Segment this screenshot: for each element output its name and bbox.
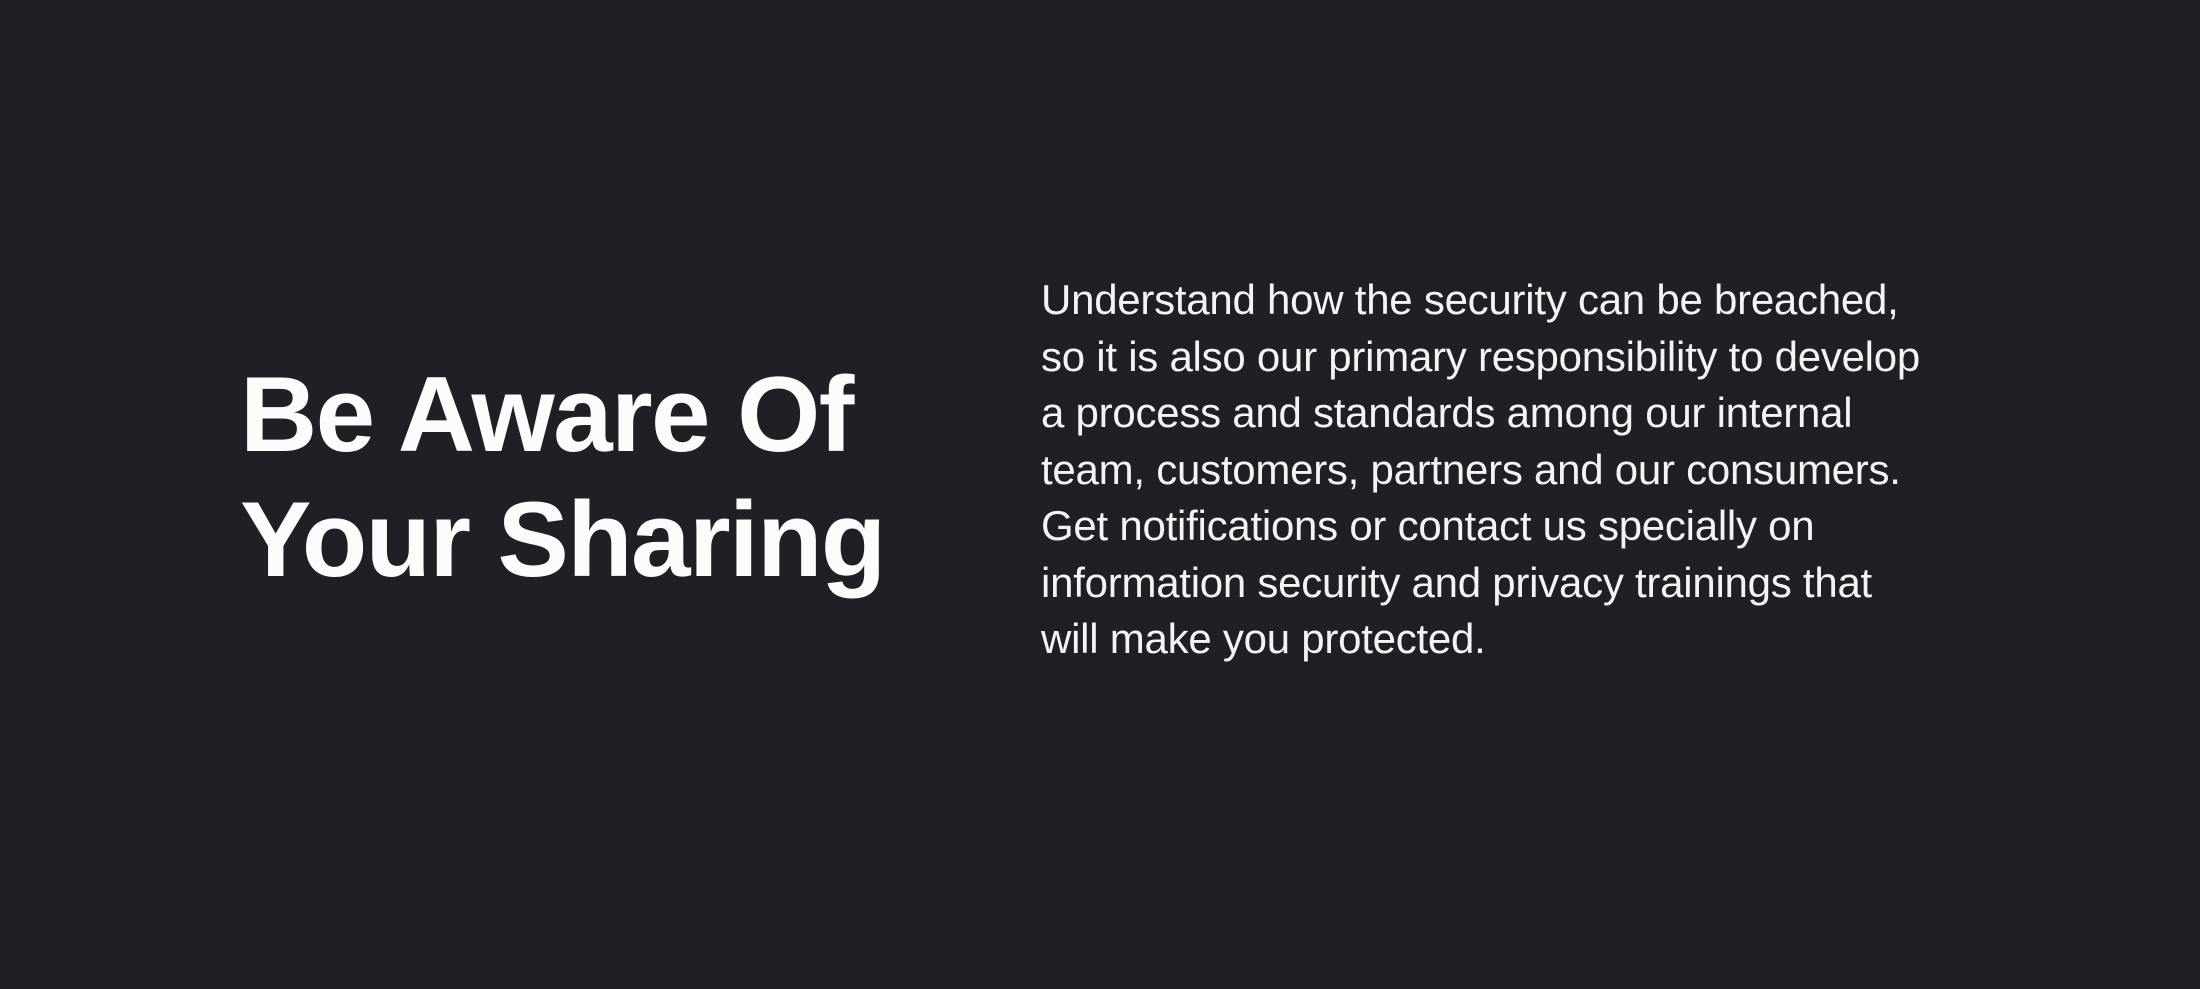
- page-title: Be Aware Of Your Sharing: [240, 352, 940, 602]
- slide-canvas: Be Aware Of Your Sharing Understand how …: [0, 0, 2200, 989]
- body-paragraph: Understand how the security can be breac…: [1041, 272, 2071, 668]
- headline-block: Be Aware Of Your Sharing: [240, 352, 940, 602]
- body-copy-block: Understand how the security can be breac…: [1041, 272, 2071, 668]
